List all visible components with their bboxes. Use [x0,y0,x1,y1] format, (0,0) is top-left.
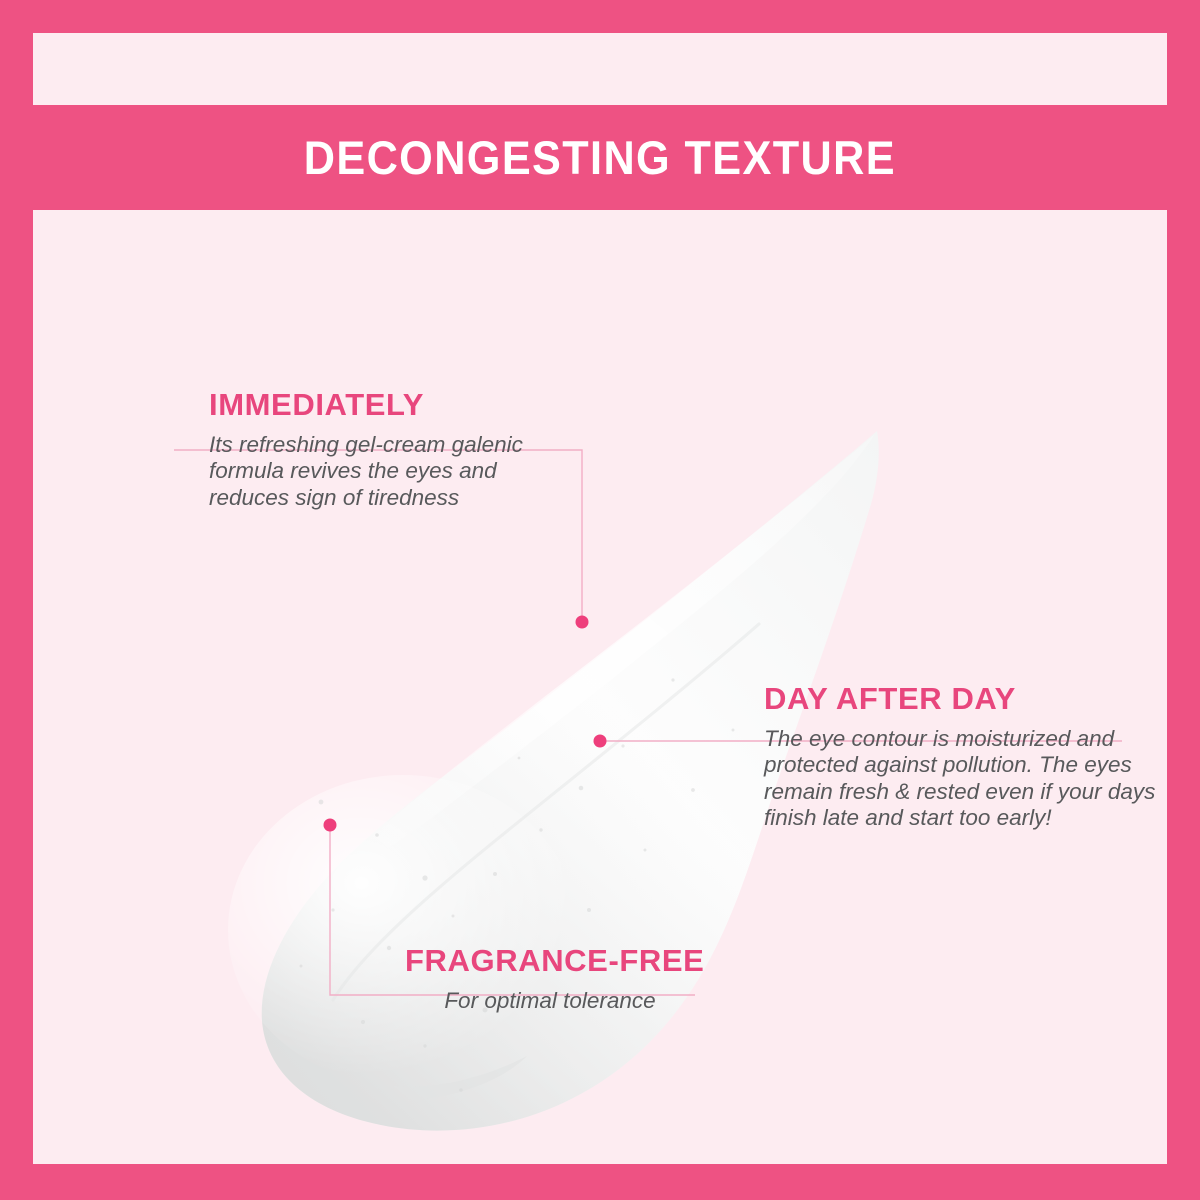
cream-speckles [300,678,735,1091]
poster-root: DECONGESTING TEXTURE [0,0,1200,1200]
callout-fragrance-free: FRAGRANCE-FREE For optimal tolerance [330,945,730,1014]
leader-dot-immediately [576,616,589,629]
callout-immediately-title: IMMEDIATELY [209,389,584,422]
leader-dot-day-after-day [594,735,607,748]
title-band: DECONGESTING TEXTURE [33,105,1167,210]
callout-day-after-day-body: The eye contour is moisturized and prote… [764,726,1156,832]
callout-day-after-day: DAY AFTER DAY The eye contour is moistur… [731,683,1156,832]
callout-immediately-body: Its refreshing gel-cream galenic formula… [209,432,584,512]
callout-immediately: IMMEDIATELY Its refreshing gel-cream gal… [174,389,584,511]
leader-dot-fragrance-free [324,819,337,832]
callout-fragrance-free-body: For optimal tolerance [405,988,695,1015]
main-panel: IMMEDIATELY Its refreshing gel-cream gal… [33,210,1167,1164]
page-title: DECONGESTING TEXTURE [304,130,896,185]
top-accent-bar [33,33,1167,105]
callout-fragrance-free-title: FRAGRANCE-FREE [405,945,730,978]
callout-day-after-day-title: DAY AFTER DAY [764,683,1156,716]
